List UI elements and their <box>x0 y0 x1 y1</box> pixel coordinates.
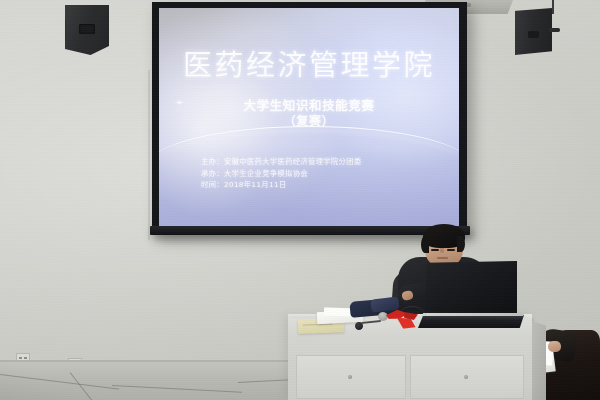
lecture-hall-photo: 医药经济管理学院 大学生知识和技能竞赛 （复赛） 主办：安徽中医药大学医药经济管… <box>0 0 600 400</box>
projection-screen-bottom-bar <box>150 226 470 235</box>
outlet-slot <box>24 357 27 359</box>
slide-credit-host: 承办：大学生企业竞争模拟协会 <box>201 168 431 180</box>
presenter-eye-left <box>431 249 439 251</box>
speaker-right-icon <box>515 8 552 55</box>
presenter-eye-right <box>447 249 455 251</box>
podium-drawer-right-knob[interactable] <box>464 375 468 379</box>
sparkle-icon <box>177 100 182 105</box>
podium-side-panel <box>532 321 546 400</box>
speaker-left-cone <box>79 24 95 34</box>
presenter-hair-side-right <box>457 236 465 252</box>
speaker-left-icon <box>65 5 109 55</box>
wall-seam <box>148 70 150 240</box>
slide-title: 医药经济管理学院 <box>159 42 459 84</box>
outlet-slot <box>19 357 22 359</box>
laptop-base-edge <box>418 313 524 316</box>
presenter-mouth <box>437 257 448 259</box>
laptop-base[interactable] <box>418 315 524 328</box>
slide-credit-date: 时间：2018年11月11日 <box>201 179 431 191</box>
desk-small-object <box>378 312 388 321</box>
speaker-right-cone <box>528 31 539 38</box>
laptop-screen[interactable] <box>425 261 517 318</box>
podium-drawer-left-knob[interactable] <box>348 375 352 379</box>
slide-credits: 主办：安徽中医药大学医药经济管理学院分团委 承办：大学生企业竞争模拟协会 时间：… <box>201 156 431 191</box>
attendee-hand <box>548 341 561 352</box>
speaker-right-arm <box>549 28 560 32</box>
projected-slide: 医药经济管理学院 大学生知识和技能竞赛 （复赛） 主办：安徽中医药大学医药经济管… <box>159 8 459 226</box>
slide-credit-organizer: 主办：安徽中医药大学医药经济管理学院分团委 <box>201 156 431 168</box>
presenter-hair-side-left <box>421 236 429 253</box>
speaker-right-cable <box>552 0 554 14</box>
